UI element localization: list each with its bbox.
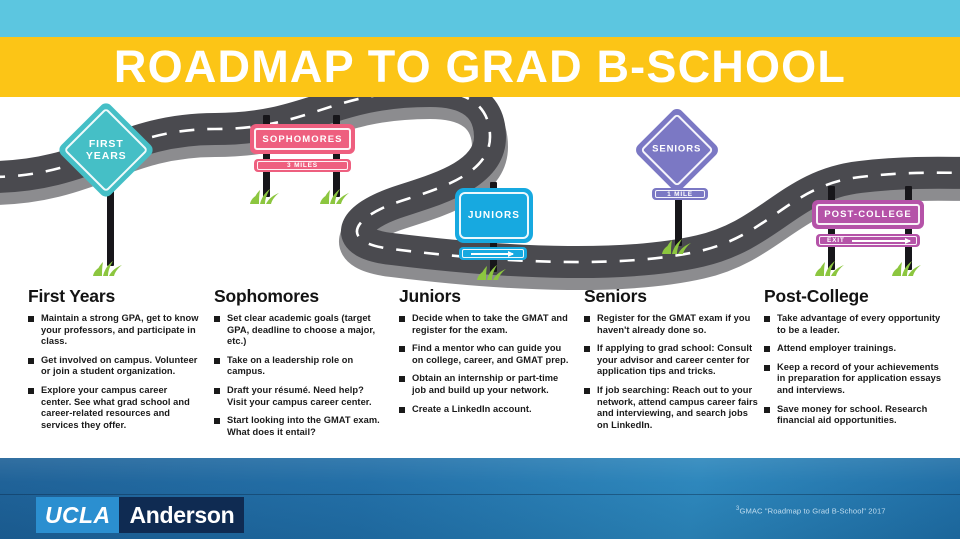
bullet-marker-icon: [764, 346, 770, 352]
bullet-marker-icon: [28, 316, 34, 322]
juniors-label: JUNIORS: [468, 210, 520, 221]
bullet-list-seniors: Register for the GMAT exam if you haven'…: [584, 313, 759, 431]
post-college-label: POST-COLLEGE: [824, 209, 912, 220]
first-years-label-line1: FIRST: [89, 138, 124, 150]
list-item: Keep a record of your achievements in pr…: [764, 362, 942, 397]
sophomores-distance-label: 3 MILES: [287, 162, 318, 169]
list-item: If job searching: Reach out to your netw…: [584, 385, 759, 431]
list-item-text: If job searching: Reach out to your netw…: [597, 385, 758, 430]
sophomores-distance-sign[interactable]: 3 MILES: [254, 159, 351, 172]
footer-hairline: [0, 494, 960, 495]
column-heading-seniors: Seniors: [584, 286, 759, 307]
juniors-sign-face[interactable]: JUNIORS: [455, 188, 533, 243]
bullet-list-first-years: Maintain a strong GPA, get to know your …: [28, 313, 200, 431]
bullet-marker-icon: [584, 316, 590, 322]
column-heading-sophomores: Sophomores: [214, 286, 386, 307]
seniors-distance-sign[interactable]: 1 MILE: [652, 188, 708, 200]
bullet-marker-icon: [584, 388, 590, 394]
bullet-marker-icon: [214, 316, 220, 322]
list-item: Obtain an internship or part-time job an…: [399, 373, 571, 396]
list-item: Maintain a strong GPA, get to know your …: [28, 313, 200, 348]
bullet-marker-icon: [399, 407, 405, 413]
grass-tuft-icon: [814, 260, 848, 276]
column-seniors: Seniors Register for the GMAT exam if yo…: [584, 286, 759, 438]
list-item-text: Obtain an internship or part-time job an…: [412, 373, 558, 395]
bullet-list-juniors: Decide when to take the GMAT and registe…: [399, 313, 571, 415]
sophomores-sign-face[interactable]: SOPHOMORES: [250, 124, 355, 154]
grass-tuft-icon: [661, 238, 695, 254]
bullet-marker-icon: [214, 418, 220, 424]
list-item: Register for the GMAT exam if you haven'…: [584, 313, 759, 336]
seniors-distance-label: 1 MILE: [667, 191, 693, 198]
grass-tuft-icon: [891, 260, 925, 276]
list-item: Explore your campus career center. See w…: [28, 385, 200, 431]
citation-text: GMAC "Roadmap to Grad B-School" 2017: [739, 507, 885, 516]
bullet-marker-icon: [28, 388, 34, 394]
slide-root: ROADMAP TO GRAD B-SCHOOL FIRST YEARS: [0, 0, 960, 539]
list-item: Attend employer trainings.: [764, 343, 942, 355]
post-college-sign-face[interactable]: POST-COLLEGE: [812, 200, 924, 229]
grass-tuft-icon: [249, 188, 283, 204]
list-item: Save money for school. Research financia…: [764, 404, 942, 427]
list-item-text: Find a mentor who can guide you on colle…: [412, 343, 569, 365]
juniors-direction-sign[interactable]: [459, 247, 527, 260]
list-item-text: Maintain a strong GPA, get to know your …: [41, 313, 199, 346]
list-item-text: Attend employer trainings.: [777, 343, 896, 353]
bullet-marker-icon: [214, 388, 220, 394]
first-years-label-line2: YEARS: [86, 150, 127, 162]
grass-tuft-icon: [92, 260, 126, 276]
bullet-marker-icon: [764, 365, 770, 371]
list-item-text: If applying to grad school: Consult your…: [597, 343, 752, 376]
list-item-text: Take advantage of every opportunity to b…: [777, 313, 940, 335]
source-citation: 3GMAC "Roadmap to Grad B-School" 2017: [736, 506, 886, 516]
bullet-marker-icon: [764, 407, 770, 413]
list-item-text: Set clear academic goals (target GPA, de…: [227, 313, 375, 346]
logo-ucla: UCLA: [36, 497, 119, 533]
list-item: Take on a leadership role on campus.: [214, 355, 386, 378]
ucla-anderson-logo[interactable]: UCLA Anderson: [36, 497, 244, 533]
logo-anderson: Anderson: [119, 497, 244, 533]
list-item-text: Keep a record of your achievements in pr…: [777, 362, 941, 395]
list-item-text: Decide when to take the GMAT and registe…: [412, 313, 568, 335]
sophomores-label: SOPHOMORES: [262, 134, 342, 145]
list-item-text: Draft your résumé. Need help? Visit your…: [227, 385, 372, 407]
bullet-marker-icon: [214, 358, 220, 364]
post-college-exit-label: EXIT: [827, 237, 845, 244]
post-college-exit-sign[interactable]: EXIT: [816, 234, 920, 247]
bullet-marker-icon: [399, 376, 405, 382]
column-juniors: Juniors Decide when to take the GMAT and…: [399, 286, 571, 422]
list-item-text: Explore your campus career center. See w…: [41, 385, 190, 430]
column-first-years: First Years Maintain a strong GPA, get t…: [28, 286, 200, 438]
first-years-label: FIRST YEARS: [86, 138, 127, 162]
list-item: Create a LinkedIn account.: [399, 404, 571, 416]
grass-tuft-icon: [319, 188, 353, 204]
bullet-marker-icon: [399, 346, 405, 352]
list-item: Start looking into the GMAT exam. What d…: [214, 415, 386, 438]
page-title: ROADMAP TO GRAD B-SCHOOL: [0, 37, 960, 97]
list-item: Set clear academic goals (target GPA, de…: [214, 313, 386, 348]
advice-columns: First Years Maintain a strong GPA, get t…: [0, 286, 960, 458]
list-item-text: Save money for school. Research financia…: [777, 404, 927, 426]
column-heading-post-college: Post-College: [764, 286, 942, 307]
seniors-label: SENIORS: [652, 144, 701, 156]
bullet-marker-icon: [28, 358, 34, 364]
list-item: Get involved on campus. Volunteer or joi…: [28, 355, 200, 378]
bullet-list-post-college: Take advantage of every opportunity to b…: [764, 313, 942, 427]
list-item-text: Register for the GMAT exam if you haven'…: [597, 313, 750, 335]
bullet-marker-icon: [399, 316, 405, 322]
column-sophomores: Sophomores Set clear academic goals (tar…: [214, 286, 386, 445]
bullet-marker-icon: [764, 316, 770, 322]
column-heading-first-years: First Years: [28, 286, 200, 307]
list-item-text: Get involved on campus. Volunteer or joi…: [41, 355, 197, 377]
list-item: Find a mentor who can guide you on colle…: [399, 343, 571, 366]
list-item-text: Create a LinkedIn account.: [412, 404, 532, 414]
bullet-list-sophomores: Set clear academic goals (target GPA, de…: [214, 313, 386, 438]
bullet-marker-icon: [584, 346, 590, 352]
arrow-right-icon: [471, 253, 513, 255]
list-item: Take advantage of every opportunity to b…: [764, 313, 942, 336]
column-post-college: Post-College Take advantage of every opp…: [764, 286, 942, 434]
list-item-text: Take on a leadership role on campus.: [227, 355, 353, 377]
list-item-text: Start looking into the GMAT exam. What d…: [227, 415, 380, 437]
column-heading-juniors: Juniors: [399, 286, 571, 307]
arrow-right-icon: [852, 240, 910, 242]
list-item: Decide when to take the GMAT and registe…: [399, 313, 571, 336]
top-cyan-band: [0, 0, 960, 37]
list-item: Draft your résumé. Need help? Visit your…: [214, 385, 386, 408]
list-item: If applying to grad school: Consult your…: [584, 343, 759, 378]
grass-tuft-icon: [476, 264, 510, 280]
